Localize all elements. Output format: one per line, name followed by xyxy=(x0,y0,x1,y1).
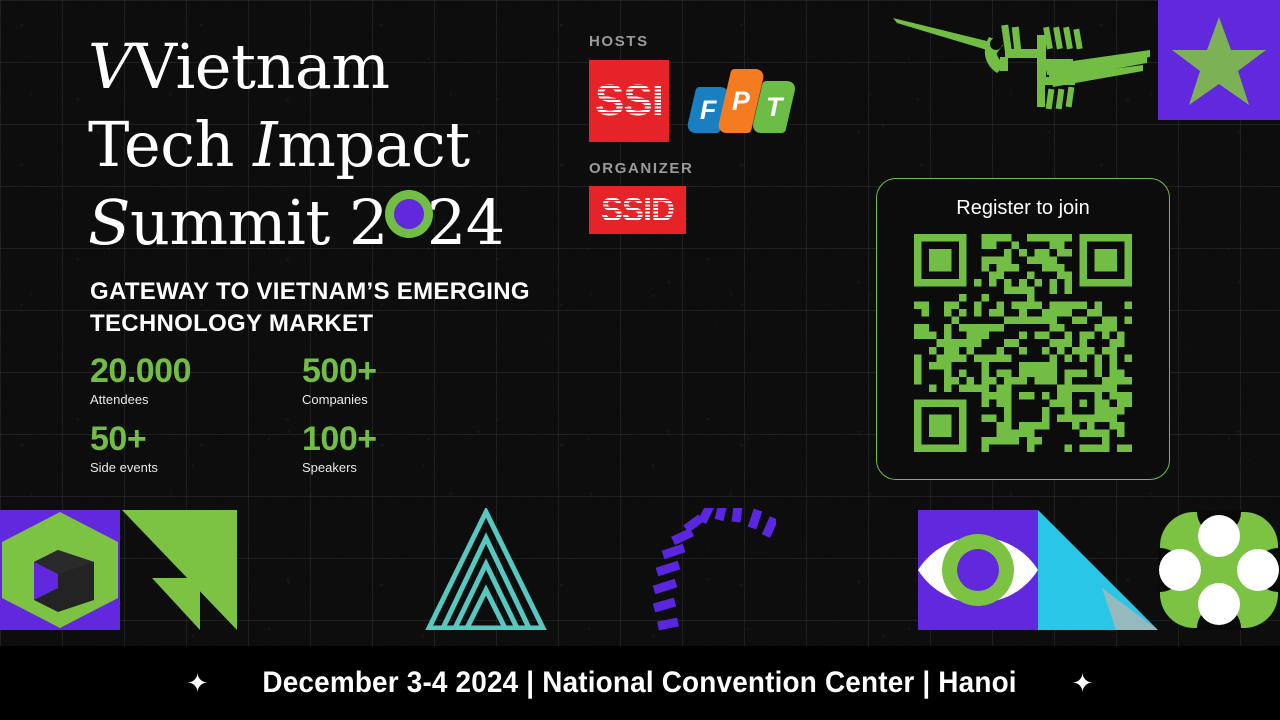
stat-value: 50+ xyxy=(90,420,302,458)
hex-cube-icon xyxy=(0,510,120,630)
stat-label: Attendees xyxy=(90,391,302,409)
cross-circles-icon xyxy=(1158,510,1280,630)
eye-icon xyxy=(918,510,1038,630)
headline-block: VVietnamVietnam Tech Impact Summit 2024 xyxy=(88,28,558,262)
poster-canvas: VVietnamVietnam Tech Impact Summit 2024 … xyxy=(0,0,1280,720)
stat-item: 100+ Speakers xyxy=(302,420,514,488)
stats-grid: 20.000 Attendees 500+ Companies 50+ Side… xyxy=(90,352,510,488)
qr-panel-title: Register to join xyxy=(956,197,1089,220)
hosts-logo-row: SSI F P T xyxy=(589,60,859,142)
year-2024: 2024 xyxy=(349,184,505,262)
organizer-caption: ORGANIZER xyxy=(589,160,859,177)
sparkle-left-icon: ✦ xyxy=(187,670,209,696)
year-suffix: 24 xyxy=(427,186,505,259)
hosts-caption: HOSTS xyxy=(589,33,859,50)
stat-item: 500+ Companies xyxy=(302,352,514,420)
organizer-block: ORGANIZER SSID xyxy=(589,160,859,234)
footer-event-details: December 3-4 2024 | National Convention … xyxy=(263,666,1017,700)
stat-label: Side events xyxy=(90,459,302,477)
ssi-logo-text: SSI xyxy=(595,76,663,126)
fpt-logo: F P T xyxy=(691,69,790,133)
nested-triangle-icon xyxy=(425,508,547,630)
title-line-3: Summit 2024 xyxy=(88,184,558,262)
bird-icon xyxy=(885,5,1150,115)
stat-label: Companies xyxy=(302,391,514,409)
stat-value: 100+ xyxy=(302,420,514,458)
poster-subtitle: GATEWAY TO VIETNAM’S EMERGING TECHNOLOGY… xyxy=(90,276,550,340)
triangles-icon xyxy=(122,510,237,630)
sparkle-right-icon: ✦ xyxy=(1072,670,1094,696)
stat-item: 20.000 Attendees xyxy=(90,352,302,420)
star-icon xyxy=(1169,13,1269,109)
star-tile xyxy=(1158,0,1280,120)
year-prefix: 2 xyxy=(349,186,388,259)
ssid-logo-text: SSID xyxy=(601,191,674,229)
partners-block: HOSTS SSI F P T ORGANIZER SSID xyxy=(589,33,859,234)
ssid-logo: SSID xyxy=(589,186,686,234)
title-line-1: VVietnamVietnam xyxy=(88,28,558,106)
stat-value: 500+ xyxy=(302,352,514,390)
ssi-logo: SSI xyxy=(589,60,669,142)
stat-item: 50+ Side events xyxy=(90,420,302,488)
year-circle-accent xyxy=(385,190,433,238)
footer-bar: ✦ December 3-4 2024 | National Conventio… xyxy=(0,646,1280,720)
cyan-triangle-icon xyxy=(1038,510,1158,630)
stat-value: 20.000 xyxy=(90,352,302,390)
register-qr-panel[interactable]: Register to join xyxy=(876,178,1170,480)
qr-code-image[interactable] xyxy=(914,234,1132,452)
title-line-2: Tech Impact xyxy=(88,106,558,184)
stat-label: Speakers xyxy=(302,459,514,477)
arc-dashes-icon xyxy=(648,508,776,632)
